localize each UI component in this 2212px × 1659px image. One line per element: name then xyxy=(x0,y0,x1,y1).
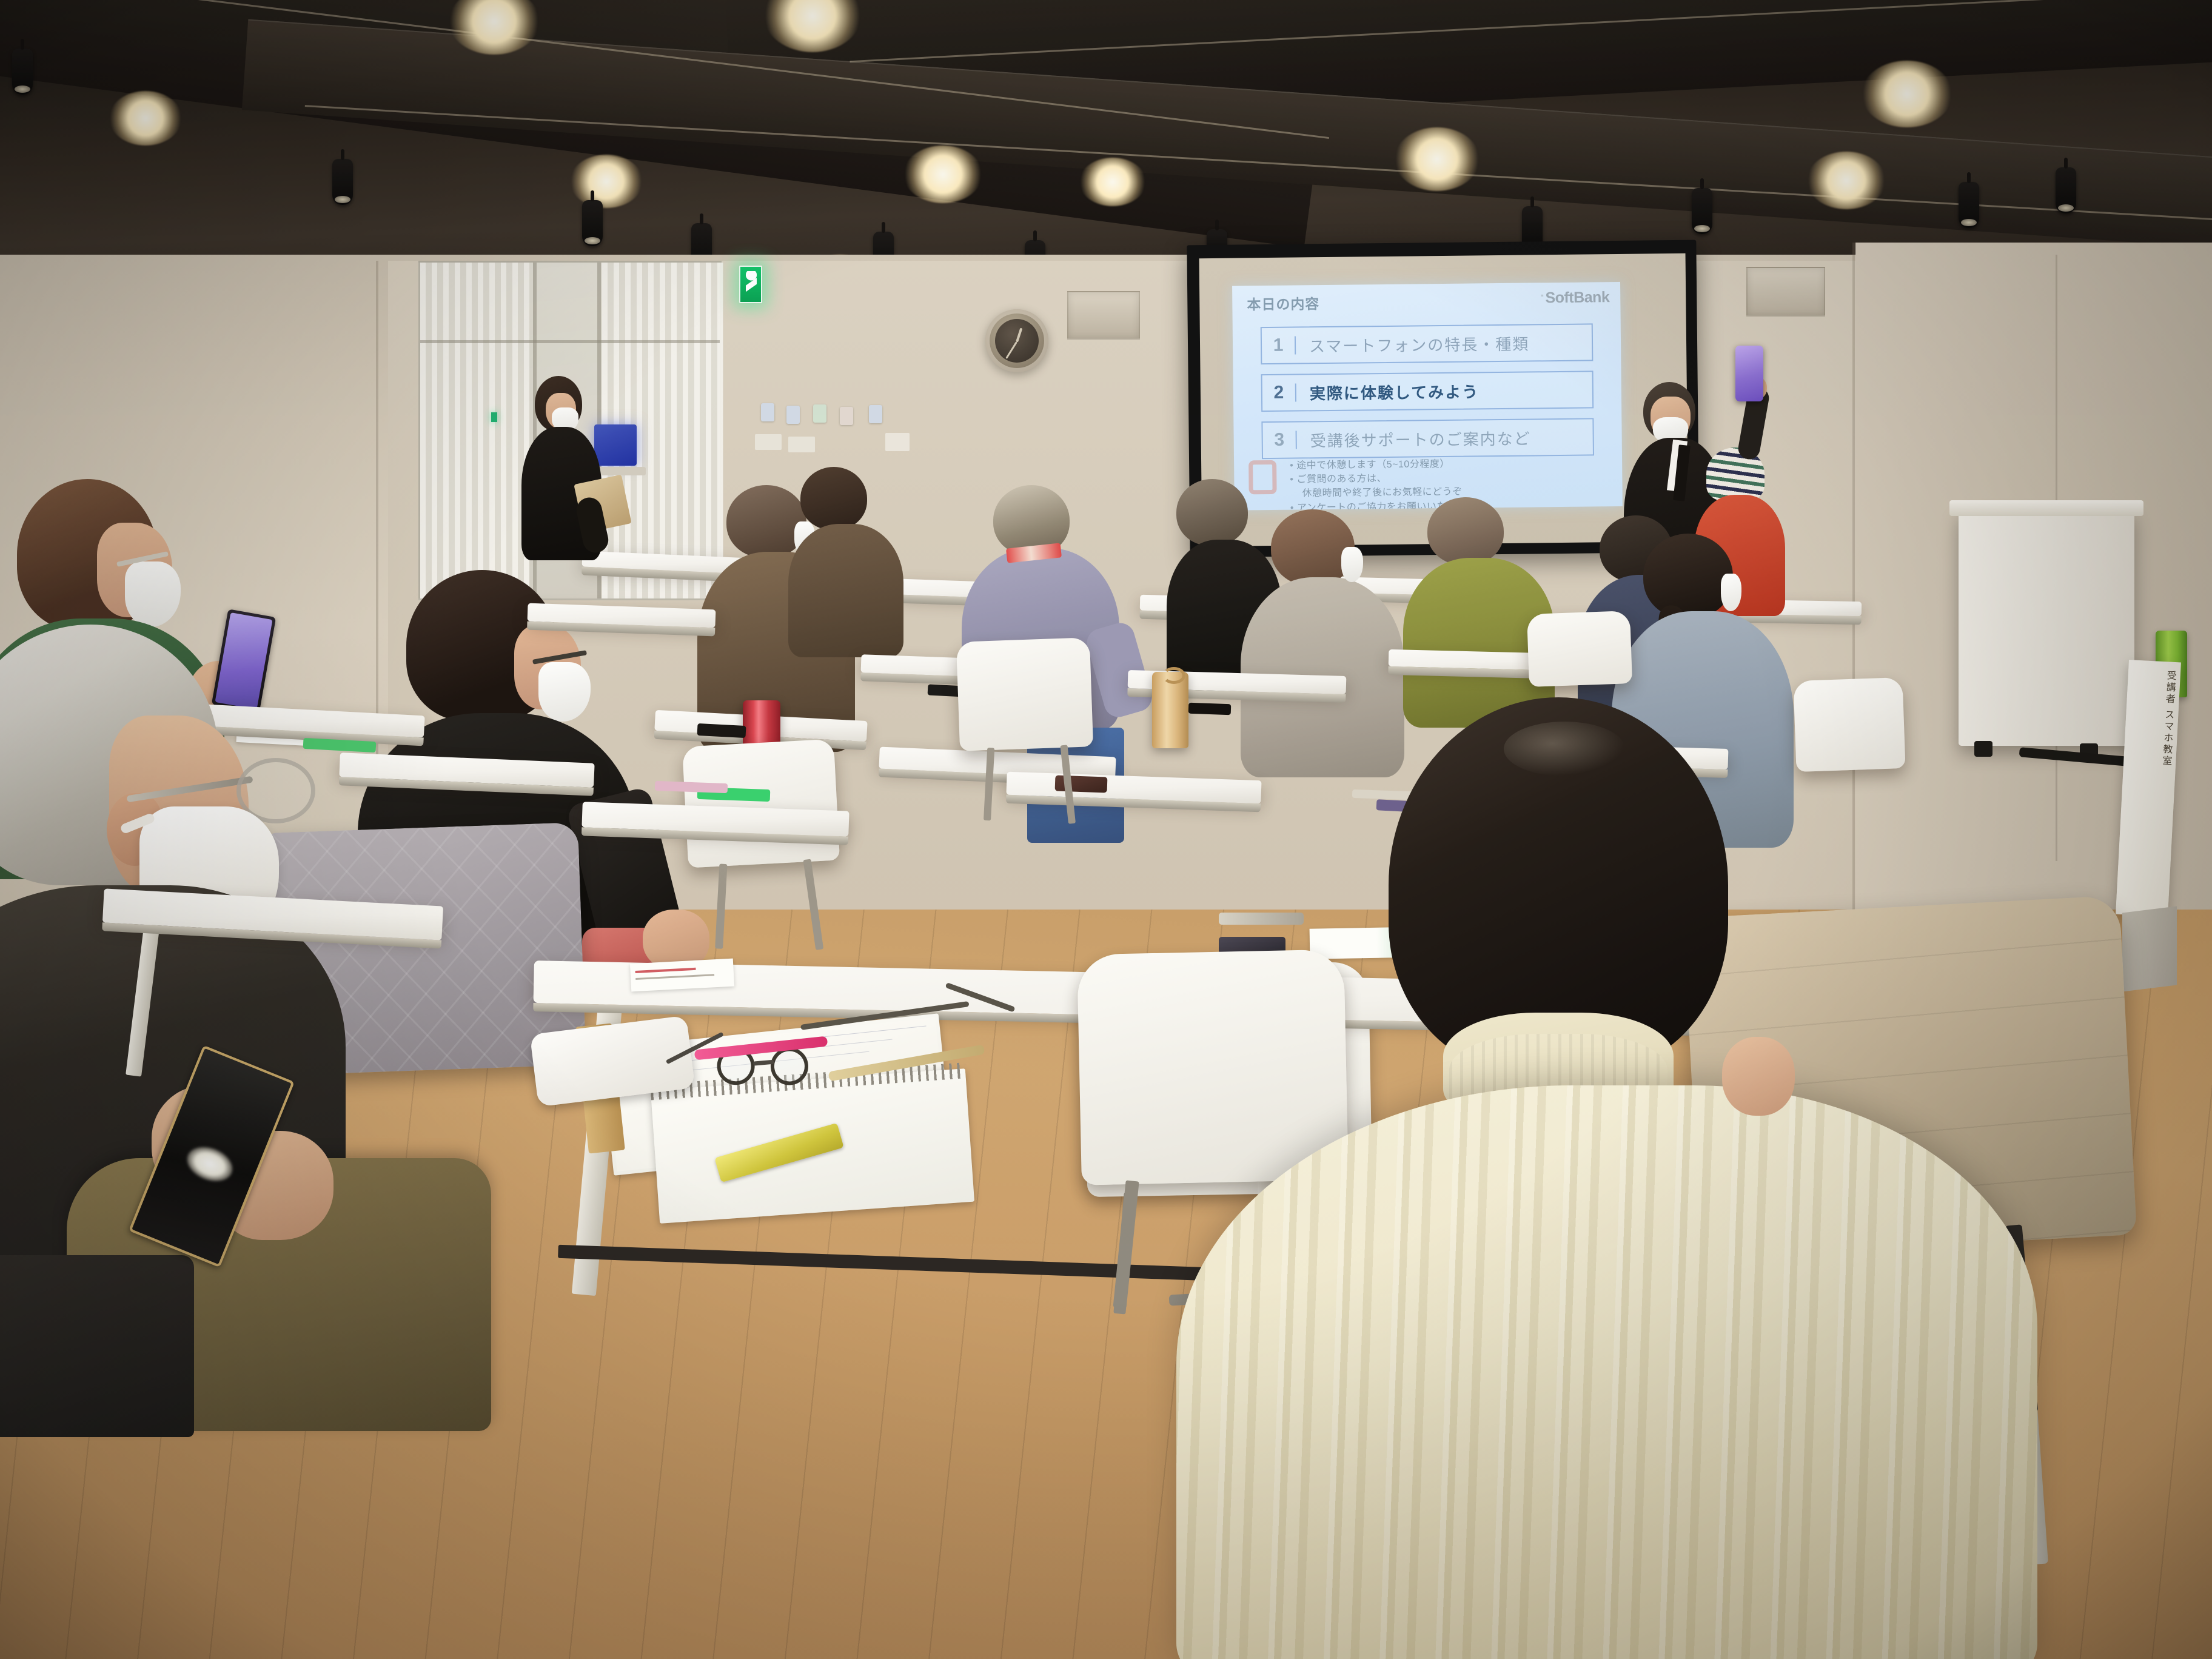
hair-highlight xyxy=(1504,722,1625,776)
logo-text: SoftBank xyxy=(1545,289,1609,306)
dark-vest xyxy=(0,1255,194,1437)
phone-outline-icon xyxy=(1248,460,1277,494)
pen xyxy=(1219,913,1304,925)
wall-label xyxy=(755,434,782,450)
agenda-item: 2 実際に体験してみよう xyxy=(1261,370,1594,412)
smartphone[interactable] xyxy=(697,723,746,738)
name-card xyxy=(630,959,734,992)
chair[interactable] xyxy=(682,739,840,868)
wall-clock xyxy=(985,309,1048,372)
track-spotlight xyxy=(1959,182,1979,228)
chair-front-center[interactable] xyxy=(1077,949,1349,1185)
wall-signage-plates xyxy=(761,403,913,427)
agenda-number: 3 xyxy=(1263,431,1297,450)
ceiling-speaker xyxy=(1746,267,1825,317)
track-spotlight xyxy=(582,200,603,246)
presentation-slide: 本日の内容 ≡SoftBank 1 スマートフォンの特長・種類 2 実際に体験し… xyxy=(1232,282,1623,511)
monitor-screen xyxy=(594,424,637,466)
wall-label xyxy=(885,433,910,451)
ceiling-downlight xyxy=(1807,152,1886,209)
agenda-number: 2 xyxy=(1262,384,1296,403)
track-spotlight xyxy=(2056,167,2076,213)
seminar-room-photo: 本日の内容 ≡SoftBank 1 スマートフォンの特長・種類 2 実際に体験し… xyxy=(0,0,2212,1659)
ceiling-downlight xyxy=(570,155,643,208)
agenda-text: 実際に体験してみよう xyxy=(1296,380,1480,404)
ear xyxy=(1722,1037,1795,1116)
ceiling-downlight xyxy=(903,146,982,203)
smartphone[interactable] xyxy=(1188,703,1232,715)
track-spotlight xyxy=(332,159,353,205)
slide-title: 本日の内容 xyxy=(1247,292,1319,313)
ceiling-speaker xyxy=(1067,291,1140,340)
exit-sign-small xyxy=(491,412,497,422)
bottle-handle xyxy=(1162,667,1185,684)
phone-case-brown[interactable] xyxy=(1055,776,1108,793)
ceiling-downlight xyxy=(1079,158,1146,206)
agenda-list: 1 スマートフォンの特長・種類 2 実際に体験してみよう 3 受講後サポートのご… xyxy=(1261,323,1594,469)
emergency-exit-icon xyxy=(739,266,762,303)
lectern-top xyxy=(1949,500,2143,516)
track-spotlight xyxy=(1692,188,1712,234)
wall-seam xyxy=(1852,243,1855,958)
ceiling-downlight xyxy=(1395,127,1480,191)
chair[interactable] xyxy=(1527,611,1632,687)
lectern-caster xyxy=(1974,741,1992,757)
ceiling-downlight xyxy=(1862,61,1952,127)
chair[interactable] xyxy=(956,637,1093,751)
banner-base xyxy=(2122,906,2177,991)
agenda-text: 受講後サポートのご案内など xyxy=(1297,426,1531,451)
wall-label xyxy=(788,437,815,452)
smartphone-raised[interactable] xyxy=(1735,346,1763,401)
softbank-logo: ≡SoftBank xyxy=(1541,289,1610,307)
agenda-item: 3 受講後サポートのご案内など xyxy=(1261,418,1594,459)
logo-mark-icon: ≡ xyxy=(1541,293,1544,298)
chair[interactable] xyxy=(1793,677,1905,772)
agenda-text: スマートフォンの特長・種類 xyxy=(1296,332,1530,357)
agenda-number: 1 xyxy=(1262,337,1296,355)
ceiling-downlight xyxy=(109,91,182,146)
cable-knit-sweater xyxy=(1176,1085,2037,1659)
agenda-item: 1 スマートフォンの特長・種類 xyxy=(1261,323,1594,364)
lectern-podium xyxy=(1959,509,2134,746)
track-spotlight xyxy=(12,49,33,95)
